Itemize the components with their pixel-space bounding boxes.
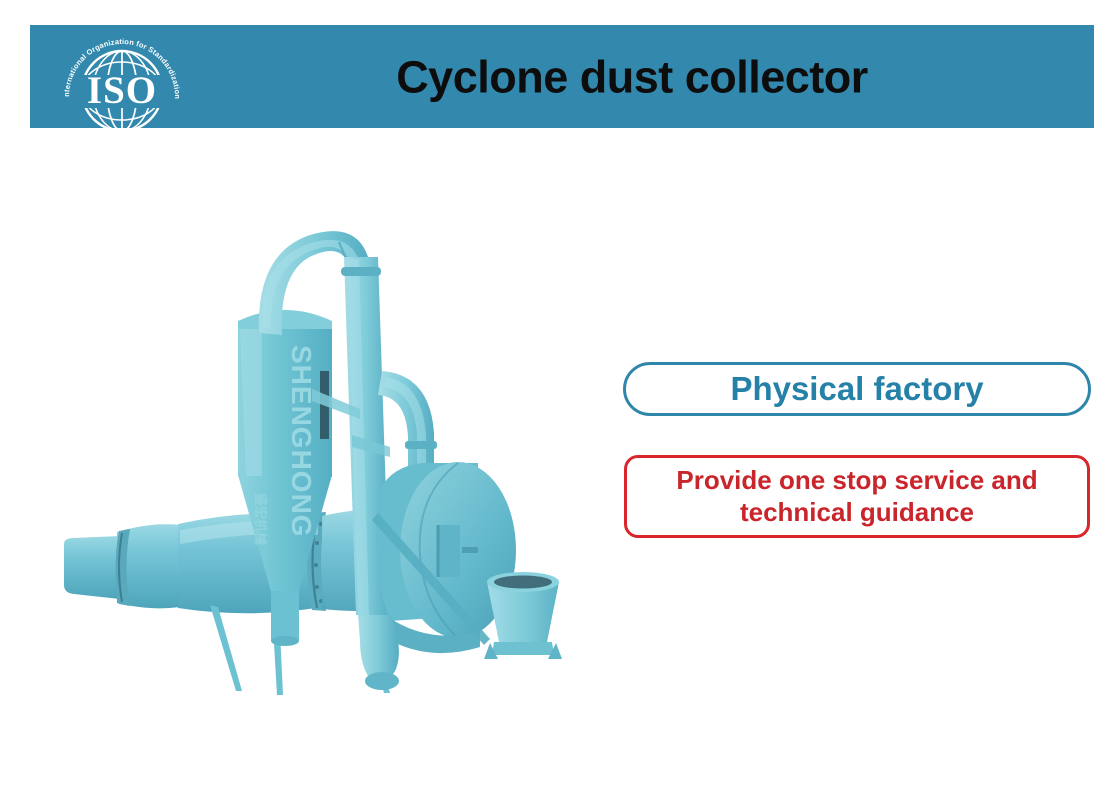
brand-mark-secondary: 盛宏机械 [253,493,268,545]
header-bar: ISO International Organization for Stand… [30,25,1094,128]
lower-elbow [358,615,399,690]
product-image-cyclone-dust-collector: SHENGHONG 盛宏机械 [60,195,580,705]
brand-mark-shenghong: SHENGHONG [286,345,317,538]
callout-one-stop-service[interactable]: Provide one stop service and technical g… [624,455,1090,538]
callout-physical-factory-label: Physical factory [730,372,983,407]
page-title: Cyclone dust collector [210,54,1054,99]
iso-acronym: ISO [87,69,157,112]
iso-standard-number: 9001 [100,128,145,149]
callout-physical-factory[interactable]: Physical factory [623,362,1091,416]
discharge-hopper [484,572,562,659]
iso-9001-logo: ISO International Organization for Stand… [52,31,192,149]
slide-canvas: ISO International Organization for Stand… [0,0,1120,799]
callout-one-stop-service-label: Provide one stop service and technical g… [627,465,1087,528]
